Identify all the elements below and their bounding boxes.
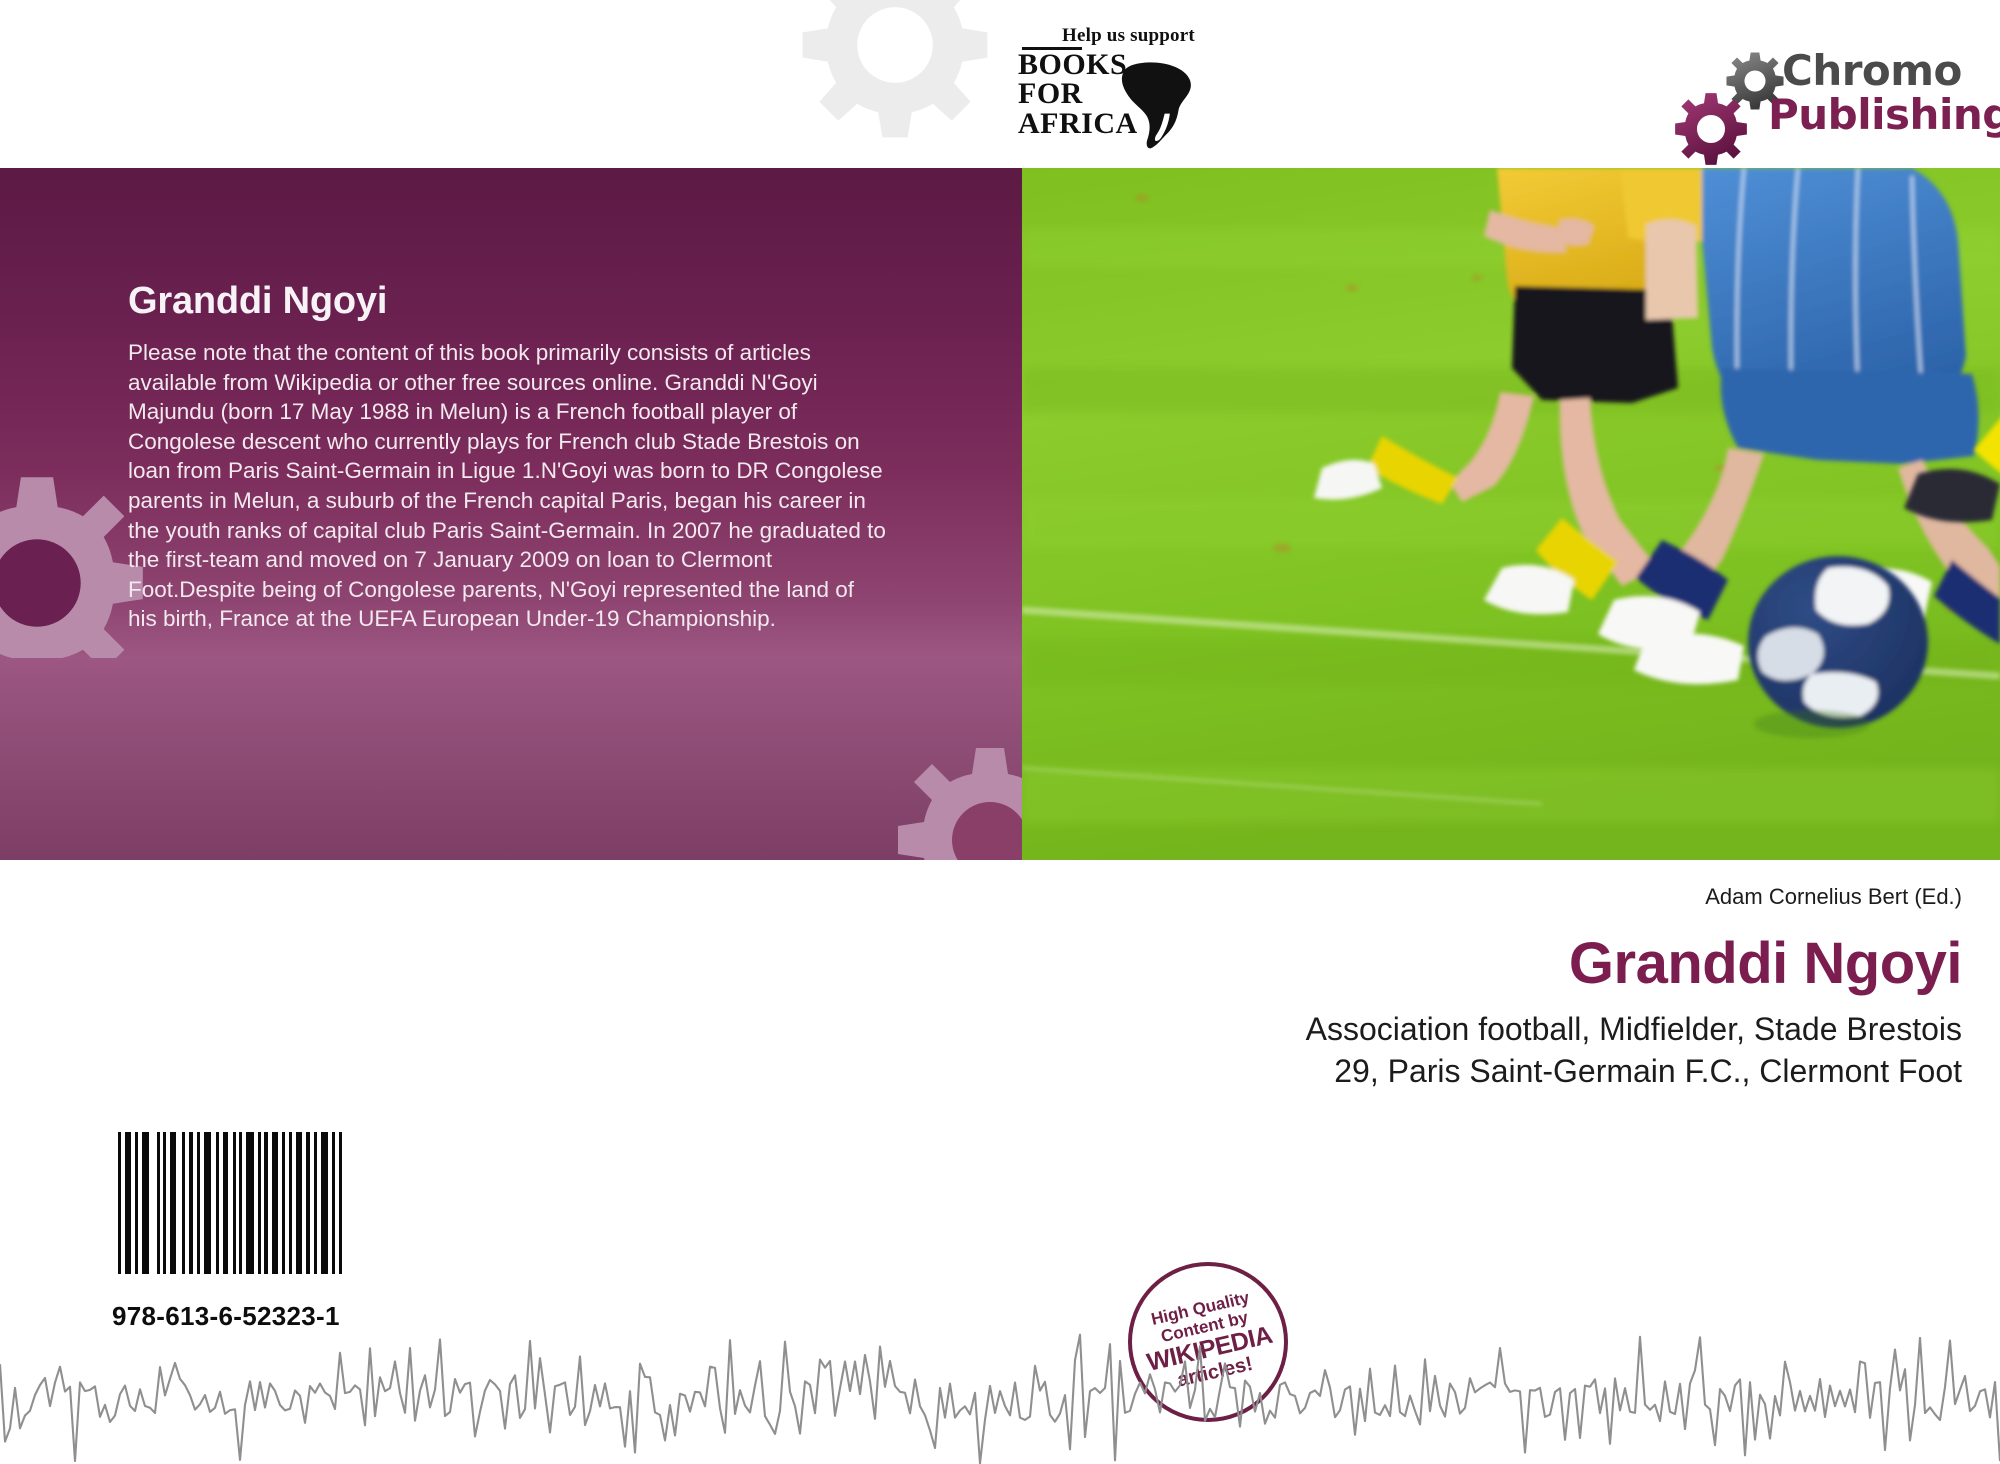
editor-credit: Adam Cornelius Bert (Ed.) [1705, 884, 1962, 910]
back-cover-title: Granddi Ngoyi [128, 280, 387, 323]
bfa-tagline: Help us support [1062, 26, 1195, 45]
waveform-decoration [0, 1322, 2000, 1464]
back-cover-description: Please note that the content of this boo… [128, 338, 888, 634]
africa-continent-icon [1112, 60, 1200, 150]
gear-icon [790, 0, 1000, 150]
front-cover-subtitle: Association football, Midfielder, Stade … [1122, 1008, 1962, 1092]
chromo-line-1: Chromo [1782, 50, 2000, 92]
front-cover-title: Granddi Ngoyi [1569, 930, 1962, 997]
seal-text: High Quality Content by WIKIPEDIA articl… [1112, 1246, 1304, 1438]
back-cover-panel-lower [0, 658, 1022, 860]
chromo-line-2: Publishing [1768, 94, 2000, 136]
gear-icon [890, 740, 1022, 860]
soccer-players-photo [1022, 168, 2000, 860]
barcode-icon [112, 1128, 350, 1278]
isbn-number: 978-613-6-52323-1 [112, 1301, 340, 1332]
chromo-publishing-logo: Chromo Publishing [1662, 48, 1962, 158]
book-cover: Help us support BOOKS FOR AFRICA [0, 0, 2000, 1464]
chromo-wordmark: Chromo Publishing [1782, 50, 2000, 136]
wikipedia-quality-seal: High Quality Content by WIKIPEDIA articl… [1128, 1262, 1288, 1422]
books-for-africa-logo: Help us support BOOKS FOR AFRICA [1008, 24, 1218, 144]
gear-icon [1672, 90, 1750, 168]
